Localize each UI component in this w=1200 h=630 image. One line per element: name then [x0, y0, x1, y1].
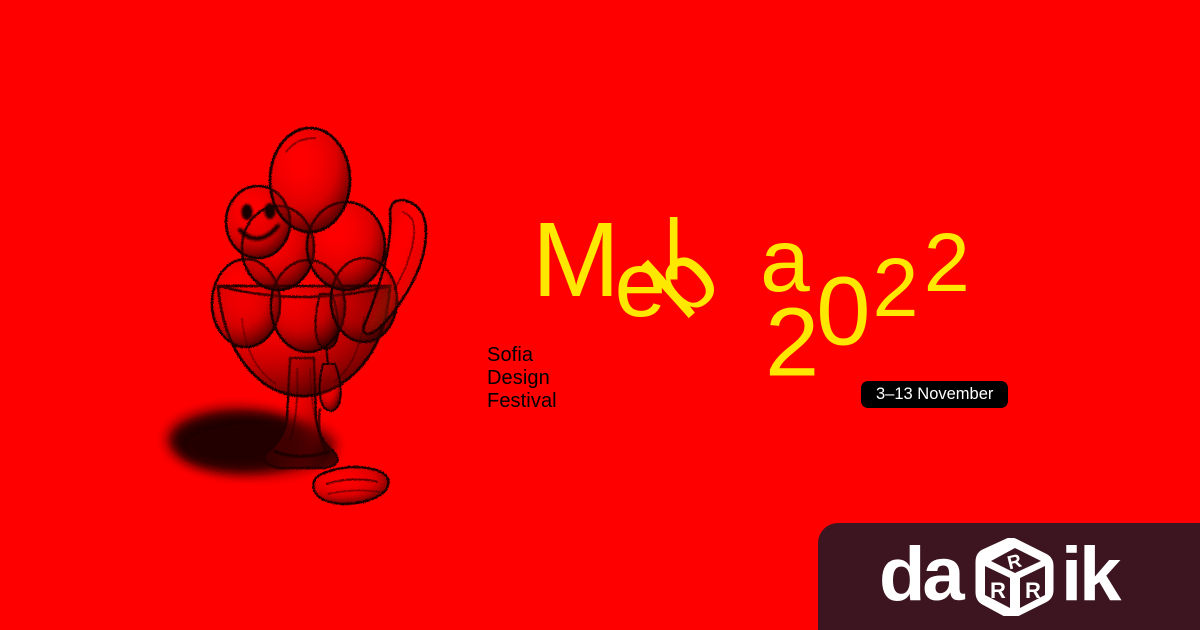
darik-cube-icon: R R R: [978, 540, 1051, 616]
date-badge: 3–13 November: [861, 381, 1008, 408]
festival-line-1: Sofia: [487, 344, 557, 367]
festival-line-3: Festival: [487, 390, 557, 413]
sundae-top-scoop: [270, 128, 350, 232]
wordmark-digit-3: 2: [924, 216, 970, 309]
poster-canvas: Melba2022 Sofia Design Festival 3–13 Nov…: [0, 0, 1200, 630]
cube-face-right-letter: R: [1025, 578, 1041, 603]
festival-line-2: Design: [487, 367, 557, 390]
wordmark-digit-1: 0: [816, 257, 870, 366]
wordmark-digit-2: 2: [873, 241, 919, 334]
sofia-design-festival-text: Sofia Design Festival: [487, 344, 557, 413]
darik-logo[interactable]: da R R: [879, 538, 1145, 616]
wordmark-letter-0: M: [532, 201, 620, 319]
darik-wordmark-before: da: [879, 538, 965, 616]
ice-cream-sundae-illustration: [150, 118, 490, 513]
cube-face-left-letter: R: [990, 578, 1006, 603]
darik-wordmark-after: ik: [1061, 538, 1122, 616]
wafer-piece: [314, 467, 389, 504]
wordmark-digit-0: 2: [765, 287, 819, 396]
darik-logo-panel[interactable]: da R R: [818, 523, 1200, 630]
